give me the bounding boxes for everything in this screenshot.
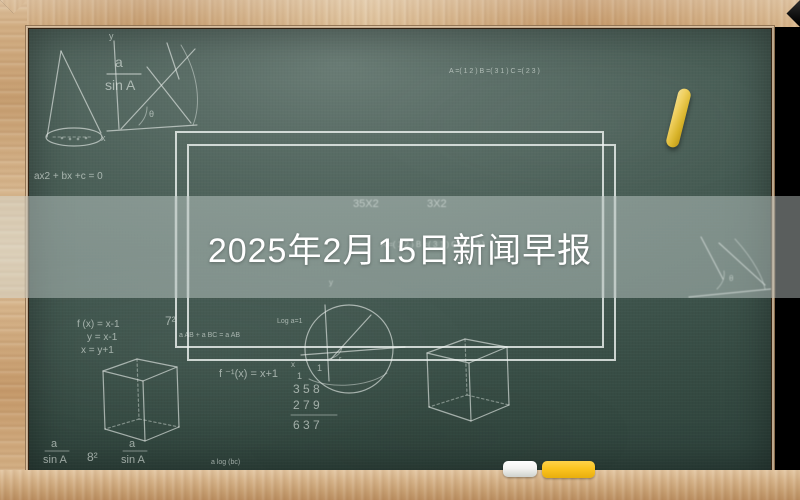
page-title: 2025年2月15日新闻早报 xyxy=(0,196,800,298)
blackboard-banner: a sin A ax2 + bx +c = 0 y x θ f (x) = x-… xyxy=(0,0,800,500)
frame-bottom xyxy=(0,0,800,27)
chalk-stick-white xyxy=(503,461,537,477)
chalk-stick-yellow xyxy=(542,461,595,478)
chalk-ledge xyxy=(0,470,800,500)
